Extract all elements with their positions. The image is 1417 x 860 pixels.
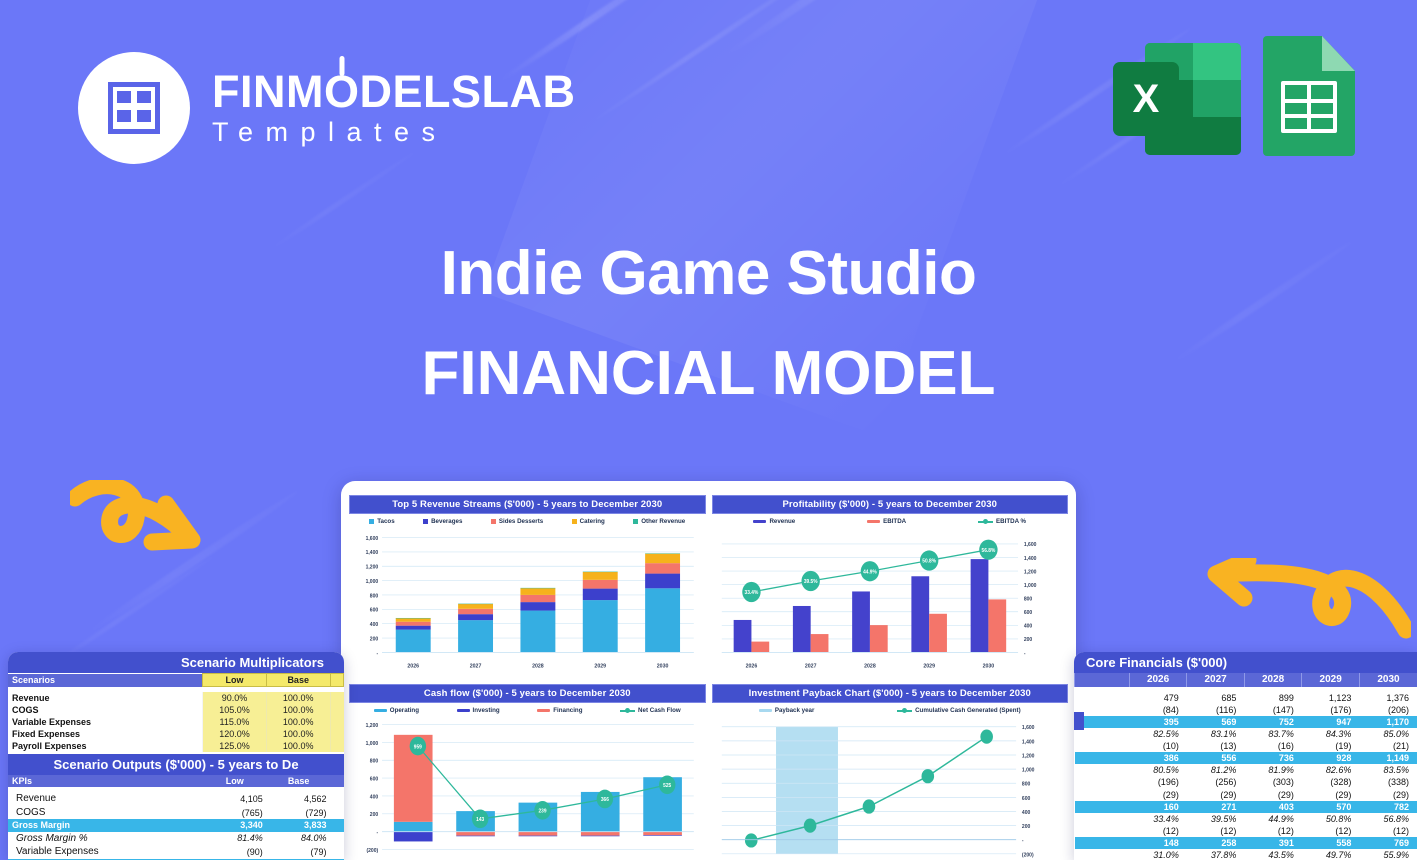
cell-2029[interactable]: (12) [1302, 825, 1360, 837]
cell-2027[interactable]: (13) [1187, 740, 1245, 752]
svg-text:2030: 2030 [657, 663, 669, 669]
page-title: Indie Game Studio FINANCIAL MODEL [0, 243, 1417, 405]
table-header-row: Scenarios Low Base [8, 674, 344, 687]
svg-text:1,000: 1,000 [1021, 767, 1034, 773]
cell-2027[interactable]: 556 [1187, 752, 1245, 764]
cell-low[interactable]: 4,105 [203, 792, 267, 806]
svg-text:600: 600 [370, 776, 378, 782]
table-row[interactable]: (12)(12)(12)(12)(12) [1075, 825, 1417, 837]
title-line-1: Indie Game Studio [0, 243, 1417, 305]
svg-text:-: - [1021, 838, 1023, 844]
table-row[interactable]: Revenue4,1054,562 [8, 792, 344, 806]
scenario-multiplicators-header: Scenario Multiplicators [8, 652, 344, 673]
row-label: Variable Expenses [8, 845, 203, 859]
cell-2028[interactable]: 899 [1244, 692, 1302, 704]
svg-text:2028: 2028 [864, 663, 876, 669]
svg-text:50.8%: 50.8% [922, 558, 936, 564]
col-header-partial [331, 775, 344, 787]
row-label-cell [1075, 789, 1130, 801]
row-label-cell [1075, 692, 1130, 704]
col-header-low: Low [203, 674, 267, 687]
chart-legend-profitability: Revenue EBITDA EBITDA % [712, 514, 1069, 527]
svg-text:39.5%: 39.5% [803, 579, 817, 585]
cell-2030[interactable]: (29) [1359, 789, 1417, 801]
chart-plot-revenue-streams: -2004006008001,0001,2001,4001,6002026202… [349, 527, 706, 678]
svg-text:2029: 2029 [923, 663, 935, 669]
svg-text:400: 400 [1021, 810, 1029, 816]
table-row[interactable]: 3865567369281,149 [1075, 752, 1417, 764]
core-financials-header: Core Financials ($'000) [1074, 652, 1417, 673]
svg-text:366: 366 [601, 797, 609, 803]
svg-text:44.9%: 44.9% [863, 569, 877, 575]
cell-2028[interactable]: (147) [1244, 704, 1302, 716]
cell-2026[interactable]: (84) [1129, 704, 1187, 716]
svg-text:2026: 2026 [407, 663, 419, 669]
table-row[interactable]: 31.0%37.8%43.5%49.7%55.9% [1075, 849, 1417, 860]
cell-2026[interactable]: 148 [1129, 837, 1187, 849]
legend-label: Tacos [377, 518, 394, 525]
row-label-cell [1075, 776, 1130, 788]
cell-2030[interactable]: 1,376 [1359, 692, 1417, 704]
legend-label: Cumulative Cash Generated (Spent) [915, 707, 1021, 714]
svg-text:1,400: 1,400 [366, 550, 379, 556]
year-header-2027: 2027 [1187, 673, 1245, 687]
cell-2029[interactable]: 82.6% [1302, 764, 1360, 776]
row-label-cell [1075, 813, 1130, 825]
cell-2028[interactable]: (303) [1244, 776, 1302, 788]
col-header-kpis: KPIs [8, 775, 203, 787]
cell-2029[interactable]: (29) [1302, 789, 1360, 801]
chart-title-cash-flow: Cash flow ($'000) - 5 years to December … [349, 684, 706, 703]
cell-partial[interactable] [330, 716, 343, 728]
svg-text:200: 200 [1023, 637, 1031, 643]
year-header-2028: 2028 [1244, 673, 1302, 687]
table-row[interactable]: 148258391558769 [1075, 837, 1417, 849]
cell-2030[interactable]: (338) [1359, 776, 1417, 788]
cell-base[interactable]: 4,562 [267, 792, 331, 806]
chart-title-investment-payback: Investment Payback Chart ($'000) - 5 yea… [712, 684, 1069, 703]
svg-text:(200): (200) [1021, 852, 1033, 858]
cell-partial[interactable] [331, 819, 344, 831]
cell-2028[interactable]: 81.9% [1244, 764, 1302, 776]
cell-2028[interactable]: 43.5% [1244, 849, 1302, 860]
legend-label: Financing [553, 707, 582, 714]
svg-text:800: 800 [1021, 781, 1029, 787]
svg-text:1,000: 1,000 [366, 579, 379, 585]
cell-low[interactable]: (765) [203, 806, 267, 820]
logo-title: FINMODELSLAB [212, 68, 576, 115]
row-label: Gross Margin [8, 819, 203, 831]
year-header-2030: 2030 [1359, 673, 1417, 687]
svg-text:2027: 2027 [470, 663, 482, 669]
logo-badge [78, 52, 190, 164]
table-row[interactable]: Fixed Expenses120.0%100.0% [8, 728, 344, 740]
legend-label: Catering [580, 518, 605, 525]
legend-label: Sides Desserts [499, 518, 543, 525]
cell-partial[interactable] [331, 832, 344, 846]
cell-2028[interactable]: (16) [1244, 740, 1302, 752]
col-header-scenarios: Scenarios [8, 674, 203, 687]
cell-2028[interactable]: (29) [1244, 789, 1302, 801]
table-row[interactable]: 80.5%81.2%81.9%82.6%83.5% [1075, 764, 1417, 776]
cell-2027[interactable]: 685 [1187, 692, 1245, 704]
chart-panel-investment-payback[interactable]: Investment Payback Chart ($'000) - 5 yea… [712, 684, 1069, 860]
table-row[interactable]: Gross Margin %81.4%84.0% [8, 832, 344, 846]
cell-2029[interactable]: (176) [1302, 704, 1360, 716]
svg-text:600: 600 [1023, 610, 1031, 616]
svg-text:2030: 2030 [982, 663, 994, 669]
table-header-row: KPIs Low Base [8, 775, 344, 787]
svg-text:1,600: 1,600 [1021, 725, 1034, 731]
cell-2030[interactable]: 769 [1359, 837, 1417, 849]
table-row[interactable]: Payroll Expenses125.0%100.0% [8, 740, 344, 752]
svg-text:600: 600 [1021, 796, 1029, 802]
svg-text:1,600: 1,600 [1023, 542, 1036, 548]
legend-label: EBITDA [883, 518, 906, 525]
cell-2030[interactable]: 55.9% [1359, 849, 1417, 860]
cell-2026[interactable]: 160 [1129, 801, 1187, 813]
table-row[interactable]: Revenue90.0%100.0% [8, 692, 344, 704]
svg-text:1,200: 1,200 [1021, 753, 1034, 759]
table-row[interactable]: Variable Expenses115.0%100.0% [8, 716, 344, 728]
cell-base[interactable]: (729) [267, 806, 331, 820]
cell-2027[interactable]: 569 [1187, 716, 1245, 728]
row-label-cell [1075, 837, 1130, 849]
table-header-row: 2026 2027 2028 2029 2030 [1075, 673, 1417, 687]
cell-partial[interactable] [330, 692, 343, 704]
col-header-base: Base [266, 674, 330, 687]
cell-2026[interactable]: 395 [1129, 716, 1187, 728]
cell-2028[interactable]: 403 [1244, 801, 1302, 813]
scenario-multiplicators-table[interactable]: Scenarios Low Base Revenue90.0%100.0%COG… [8, 673, 344, 752]
svg-text:1,000: 1,000 [1023, 583, 1036, 589]
grid-square-icon [108, 82, 160, 134]
table-row[interactable]: (29)(29)(29)(29)(29) [1075, 789, 1417, 801]
cell-2028[interactable]: 83.7% [1244, 728, 1302, 740]
core-financials-panel[interactable]: Core Financials ($'000) 2026 2027 2028 2… [1074, 652, 1417, 860]
svg-text:-: - [376, 651, 378, 657]
cell-partial[interactable] [331, 792, 344, 806]
cell-2029[interactable]: 570 [1302, 801, 1360, 813]
cell-partial[interactable] [331, 845, 344, 859]
cell-2026[interactable]: 386 [1129, 752, 1187, 764]
row-label-cell [1075, 764, 1130, 776]
table-row[interactable]: COGS105.0%100.0% [8, 704, 344, 716]
legend-label: Revenue [769, 518, 795, 525]
cell-2026[interactable]: (12) [1129, 825, 1187, 837]
excel-x-glyph: X [1113, 62, 1179, 136]
svg-text:600: 600 [370, 608, 378, 614]
cell-2029[interactable]: 928 [1302, 752, 1360, 764]
cell-2026[interactable]: 31.0% [1129, 849, 1187, 860]
cell-base[interactable]: 100.0% [266, 716, 330, 728]
chart-title-profitability: Profitability ($'000) - 5 years to Decem… [712, 495, 1069, 514]
table-row[interactable]: 160271403570782 [1075, 801, 1417, 813]
row-label: Revenue [8, 692, 203, 704]
scenario-outputs-table[interactable]: KPIs Low Base Revenue4,1054,562COGS(765)… [8, 775, 344, 860]
row-label-cell [1075, 752, 1130, 764]
legend-label: EBITDA % [996, 518, 1026, 525]
row-label: Variable Expenses [8, 716, 203, 728]
cell-2027[interactable]: (256) [1187, 776, 1245, 788]
file-format-icons: X [1113, 36, 1355, 162]
cell-base[interactable]: (79) [267, 845, 331, 859]
table-row[interactable]: (10)(13)(16)(19)(21) [1075, 740, 1417, 752]
svg-text:2028: 2028 [532, 663, 544, 669]
cell-partial[interactable] [330, 740, 343, 752]
cell-base[interactable]: 100.0% [266, 740, 330, 752]
cell-2026[interactable]: (196) [1129, 776, 1187, 788]
cell-2027[interactable]: 271 [1187, 801, 1245, 813]
cell-2027[interactable]: 83.1% [1187, 728, 1245, 740]
row-label-cell [1075, 801, 1130, 813]
cell-low[interactable]: 105.0% [203, 704, 267, 716]
cell-2029[interactable]: 50.8% [1302, 813, 1360, 825]
svg-text:1,200: 1,200 [366, 723, 379, 729]
cell-2026[interactable]: 33.4% [1129, 813, 1187, 825]
cell-2027[interactable]: 258 [1187, 837, 1245, 849]
cell-2027[interactable]: (12) [1187, 825, 1245, 837]
cell-base[interactable]: 3,833 [267, 819, 331, 831]
svg-text:1,400: 1,400 [1021, 739, 1034, 745]
chart-title-revenue-streams: Top 5 Revenue Streams ($'000) - 5 years … [349, 495, 706, 514]
row-label: Fixed Expenses [8, 728, 203, 740]
row-label-cell [1075, 825, 1130, 837]
cell-2026[interactable]: (29) [1129, 789, 1187, 801]
table-row[interactable]: (196)(256)(303)(328)(338) [1075, 776, 1417, 788]
table-row[interactable]: 82.5%83.1%83.7%84.3%85.0% [1075, 728, 1417, 740]
cell-low[interactable]: 81.4% [203, 832, 267, 846]
svg-text:525: 525 [663, 783, 671, 789]
cell-base[interactable]: 100.0% [266, 704, 330, 716]
row-label-cell [1075, 740, 1130, 752]
svg-text:1,200: 1,200 [366, 564, 379, 570]
google-sheets-icon[interactable] [1263, 36, 1355, 156]
cell-2026[interactable]: 479 [1129, 692, 1187, 704]
legend-label: Net Cash Flow [638, 707, 681, 714]
cell-2029[interactable]: 84.3% [1302, 728, 1360, 740]
cell-base[interactable]: 100.0% [266, 692, 330, 704]
table-row[interactable]: Gross Margin3,3403,833 [8, 819, 344, 831]
excel-icon[interactable]: X [1113, 36, 1241, 162]
table-row[interactable]: 4796858991,1231,376 [1075, 692, 1417, 704]
svg-text:1,400: 1,400 [1023, 556, 1036, 562]
cell-2027[interactable]: (116) [1187, 704, 1245, 716]
year-header-2026: 2026 [1129, 673, 1187, 687]
col-header-partial [330, 674, 343, 687]
svg-text:56.8%: 56.8% [981, 548, 995, 554]
cell-2030[interactable]: 85.0% [1359, 728, 1417, 740]
cell-partial[interactable] [330, 704, 343, 716]
chart-legend-cash-flow: Operating Investing Financing Net Cash F… [349, 703, 706, 716]
svg-text:1,200: 1,200 [1023, 569, 1036, 575]
cell-base[interactable]: 84.0% [267, 832, 331, 846]
chart-legend-revenue-streams: Tacos Beverages Sides Desserts Catering … [349, 514, 706, 527]
cell-2028[interactable]: 391 [1244, 837, 1302, 849]
legend-label: Investing [473, 707, 500, 714]
row-label: Revenue [8, 792, 203, 806]
cell-2028[interactable]: 44.9% [1244, 813, 1302, 825]
dashboard-preview[interactable]: Top 5 Revenue Streams ($'000) - 5 years … [341, 481, 1076, 860]
cell-2029[interactable]: (19) [1302, 740, 1360, 752]
legend-label: Beverages [431, 518, 462, 525]
cell-2026[interactable]: (10) [1129, 740, 1187, 752]
row-label: Gross Margin % [8, 832, 203, 846]
svg-text:239: 239 [539, 808, 547, 814]
cell-2026[interactable]: 80.5% [1129, 764, 1187, 776]
svg-text:33.4%: 33.4% [744, 590, 758, 596]
chart-plot-cash-flow: (200)-2004006008001,0001,200959143239366… [349, 716, 706, 860]
cell-2027[interactable]: 37.8% [1187, 849, 1245, 860]
cell-2029[interactable]: 947 [1302, 716, 1360, 728]
year-header-2029: 2029 [1302, 673, 1360, 687]
table-row[interactable]: 33.4%39.5%44.9%50.8%56.8% [1075, 813, 1417, 825]
svg-text:(200): (200) [366, 848, 378, 854]
cell-2030[interactable]: (21) [1359, 740, 1417, 752]
title-line-2: FINANCIAL MODEL [0, 343, 1417, 405]
cell-2027[interactable]: (29) [1187, 789, 1245, 801]
svg-text:1,000: 1,000 [366, 741, 379, 747]
row-label: COGS [8, 704, 203, 716]
cell-2030[interactable]: (206) [1359, 704, 1417, 716]
table-row[interactable]: COGS(765)(729) [8, 806, 344, 820]
cell-2028[interactable]: 736 [1244, 752, 1302, 764]
cell-low[interactable]: (90) [203, 845, 267, 859]
svg-text:800: 800 [370, 758, 378, 764]
cell-2027[interactable]: 39.5% [1187, 813, 1245, 825]
row-label: COGS [8, 806, 203, 820]
svg-text:2027: 2027 [804, 663, 816, 669]
cell-low[interactable]: 90.0% [203, 692, 267, 704]
cell-2030[interactable]: 782 [1359, 801, 1417, 813]
row-label: Payroll Expenses [8, 740, 203, 752]
chart-panel-profitability[interactable]: Profitability ($'000) - 5 years to Decem… [712, 495, 1069, 678]
core-financials-table[interactable]: 2026 2027 2028 2029 2030 4796858991,1231… [1074, 673, 1417, 860]
cell-2030[interactable]: 1,149 [1359, 752, 1417, 764]
svg-text:2029: 2029 [594, 663, 606, 669]
decorative-arrow-left [70, 480, 220, 595]
cell-2026[interactable]: 82.5% [1129, 728, 1187, 740]
chart-plot-profitability: -2004006008001,0001,2001,4001,60033.4%39… [712, 527, 1069, 678]
svg-text:400: 400 [370, 794, 378, 800]
svg-text:400: 400 [1023, 623, 1031, 629]
svg-text:-: - [376, 830, 378, 836]
chart-panel-cash-flow[interactable]: Cash flow ($'000) - 5 years to December … [349, 684, 706, 860]
svg-text:143: 143 [476, 817, 484, 823]
svg-text:400: 400 [370, 622, 378, 628]
cell-2030[interactable]: 83.5% [1359, 764, 1417, 776]
cell-2029[interactable]: 49.7% [1302, 849, 1360, 860]
cell-2028[interactable]: 752 [1244, 716, 1302, 728]
svg-text:800: 800 [370, 593, 378, 599]
cell-2030[interactable]: (12) [1359, 825, 1417, 837]
cell-low[interactable]: 115.0% [203, 716, 267, 728]
brand-logo[interactable]: FINMODELSLAB Templates [78, 52, 576, 164]
svg-text:1,600: 1,600 [366, 536, 379, 542]
svg-text:200: 200 [370, 636, 378, 642]
cell-low[interactable]: 125.0% [203, 740, 267, 752]
scenario-sheet-panel[interactable]: Scenario Multiplicators Scenarios Low Ba… [8, 652, 344, 860]
table-row[interactable]: Variable Expenses(90)(79) [8, 845, 344, 859]
cell-2029[interactable]: (328) [1302, 776, 1360, 788]
col-header-low: Low [203, 775, 267, 787]
table-row[interactable]: (84)(116)(147)(176)(206) [1075, 704, 1417, 716]
cell-2030[interactable]: 56.8% [1359, 813, 1417, 825]
cell-low[interactable]: 3,340 [203, 819, 267, 831]
col-header-base: Base [267, 775, 331, 787]
cell-low[interactable]: 120.0% [203, 728, 267, 740]
svg-text:2026: 2026 [745, 663, 757, 669]
svg-text:959: 959 [414, 744, 422, 750]
legend-label: Operating [390, 707, 419, 714]
legend-label: Payback year [775, 707, 815, 714]
cell-2028[interactable]: (12) [1244, 825, 1302, 837]
logo-subtitle: Templates [212, 117, 576, 148]
cell-2030[interactable]: 1,170 [1359, 716, 1417, 728]
cell-2029[interactable]: 558 [1302, 837, 1360, 849]
chart-panel-revenue-streams[interactable]: Top 5 Revenue Streams ($'000) - 5 years … [349, 495, 706, 678]
cell-2027[interactable]: 81.2% [1187, 764, 1245, 776]
cell-2029[interactable]: 1,123 [1302, 692, 1360, 704]
cell-partial[interactable] [330, 728, 343, 740]
table-row[interactable]: 3955697529471,170 [1075, 716, 1417, 728]
svg-text:800: 800 [1023, 596, 1031, 602]
cell-base[interactable]: 100.0% [266, 728, 330, 740]
svg-text:200: 200 [1021, 824, 1029, 830]
legend-label: Other Revenue [641, 518, 685, 525]
chart-legend-investment-payback: Payback year Cumulative Cash Generated (… [712, 703, 1069, 716]
svg-text:-: - [1023, 651, 1025, 657]
scenario-outputs-header: Scenario Outputs ($'000) - 5 years to De [8, 754, 344, 775]
cell-partial[interactable] [331, 806, 344, 820]
row-label-cell [1075, 849, 1130, 860]
svg-text:200: 200 [370, 812, 378, 818]
chart-plot-investment-payback: (200)-2004006008001,0001,2001,4001,600 [712, 716, 1069, 860]
